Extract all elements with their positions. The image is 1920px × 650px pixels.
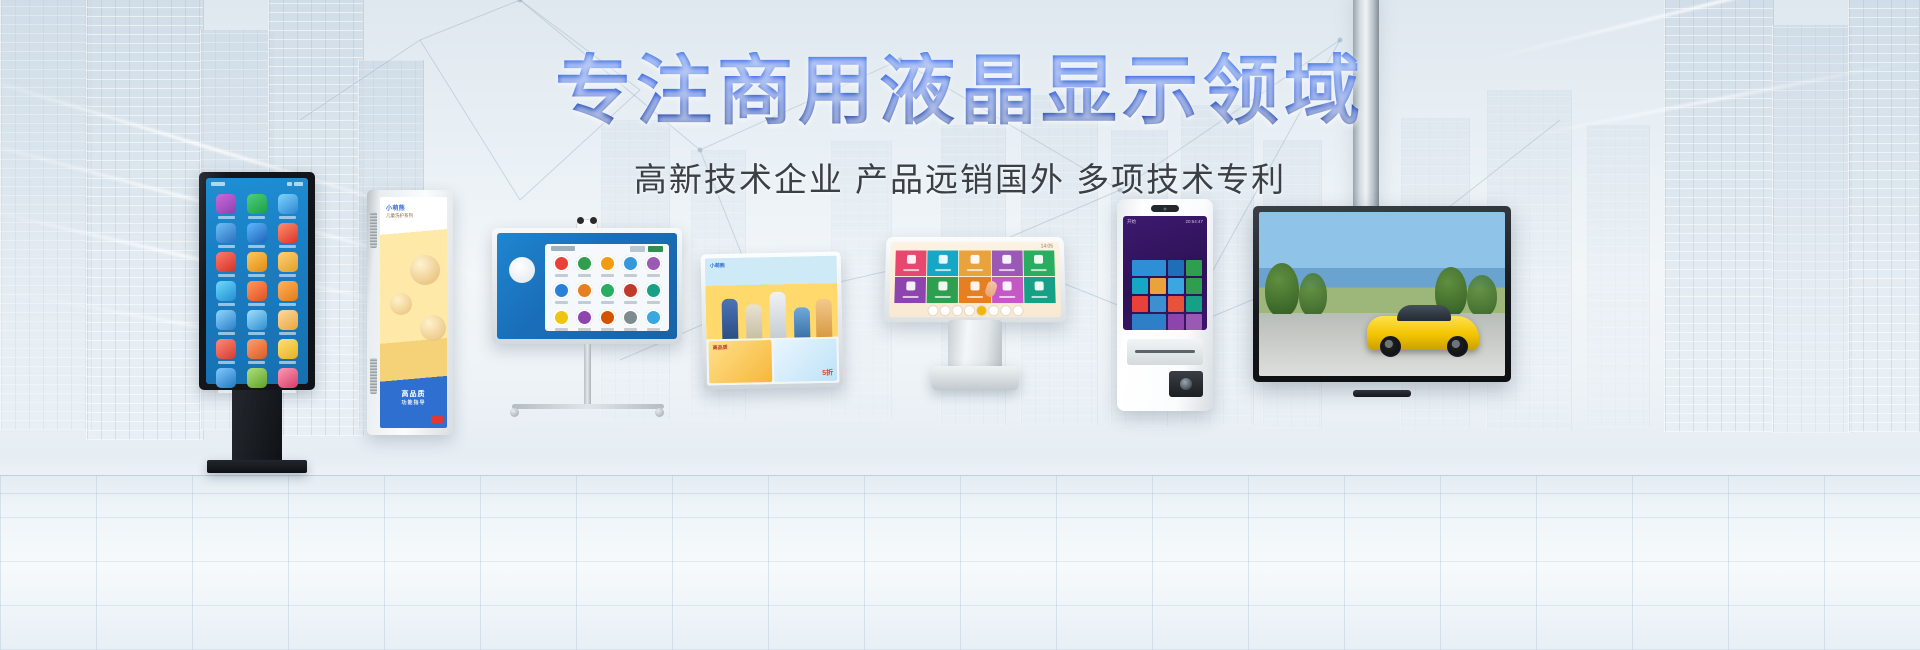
subject-tile[interactable]: [551, 309, 571, 331]
metro-tile[interactable]: [1168, 260, 1184, 276]
service-tile[interactable]: [927, 277, 959, 303]
metro-tile[interactable]: [1186, 314, 1202, 330]
product-vertical-ad-display[interactable]: 小萌熊 儿童洗护系列 高品质 功能指导: [367, 190, 453, 435]
vad-brand-label: 小萌熊: [386, 203, 405, 212]
product-advertising-tablet[interactable]: 小萌熊 高品质 5折: [701, 252, 844, 390]
terminal-status-bar: 开始 20:54:47: [1127, 219, 1203, 225]
subject-tile[interactable]: [620, 255, 640, 277]
tree-shape: [1265, 263, 1299, 317]
service-tile-grid: [894, 251, 1055, 304]
pedestal-dock: [893, 306, 1057, 315]
whiteboard-bezel: [492, 228, 682, 344]
vad-caption: 高品质 功能指导: [380, 389, 447, 406]
subject-tile[interactable]: [551, 255, 571, 277]
product-pedestal-touch-kiosk[interactable]: 14:05: [885, 236, 1065, 396]
promo-hero-area: 小萌熊: [705, 256, 839, 340]
promo-bottom-row: 高品质 5折: [706, 337, 839, 385]
status-clock: 20:54:47: [1185, 219, 1203, 225]
printer-slot: [1135, 350, 1195, 353]
vad-caption-main: 高品质: [402, 391, 426, 398]
promo-brand-label: 小萌熊: [710, 262, 725, 269]
dock-icon[interactable]: [1013, 306, 1022, 315]
kiosk-screen: [206, 178, 308, 384]
subject-tile[interactable]: [551, 282, 571, 304]
app-icon-tile: [214, 281, 239, 306]
dock-icon[interactable]: [940, 306, 949, 315]
service-tile[interactable]: [1024, 277, 1056, 303]
service-tile[interactable]: [894, 277, 926, 303]
os-label: 开始: [1127, 219, 1136, 225]
app-icon-tile: [245, 281, 270, 306]
subject-tile[interactable]: [597, 282, 617, 304]
panel-tabs[interactable]: [630, 246, 663, 252]
status-clock: 14:05: [1041, 244, 1054, 250]
app-icon-tile: [245, 223, 270, 248]
speaker-grille-icon: [370, 212, 377, 248]
tv-screen: [1259, 212, 1505, 376]
app-icon-tile: [214, 252, 239, 277]
dock-icon[interactable]: [989, 306, 998, 315]
app-icon-tile: [214, 310, 239, 335]
subject-tile[interactable]: [574, 309, 594, 331]
subject-tile[interactable]: [643, 255, 663, 277]
service-tile[interactable]: [959, 251, 990, 277]
product-floor-standing-kiosk[interactable]: [199, 172, 315, 472]
metro-tile[interactable]: [1168, 296, 1184, 312]
tree-shape: [1299, 273, 1327, 317]
speaker-grille-icon: [370, 358, 377, 394]
app-icon-tile: [245, 252, 270, 277]
stand-wheel: [510, 408, 519, 417]
app-icon-tile: [275, 281, 300, 306]
hero-banner: 专注商用液晶显示领域 高新技术企业 产品远销国外 多项技术专利: [0, 0, 1920, 650]
whiteboard-screen: [497, 233, 677, 339]
app-icon-tile: [275, 310, 300, 335]
service-tile[interactable]: [927, 251, 958, 277]
service-tile[interactable]: [895, 251, 927, 277]
whiteboard-app-grid: [551, 255, 663, 331]
metro-tile[interactable]: [1132, 314, 1166, 330]
dock-icon[interactable]: [928, 306, 937, 315]
subject-tile[interactable]: [620, 309, 640, 331]
metro-tile[interactable]: [1132, 278, 1148, 294]
vad-brand-sub: 儿童洗护系列: [386, 213, 413, 219]
subject-tile[interactable]: [597, 255, 617, 277]
windows-tile-grid: [1132, 260, 1202, 330]
car-wheel: [1380, 336, 1401, 357]
subject-tile[interactable]: [643, 282, 663, 304]
tree-shape: [1467, 275, 1497, 317]
tablet-screen: 小萌熊 高品质 5折: [705, 256, 840, 386]
tablet-frame: 小萌熊 高品质 5折: [701, 252, 844, 390]
car-wheel: [1447, 336, 1468, 357]
sports-car-graphic: [1367, 316, 1479, 350]
dock-icon-selected[interactable]: [977, 306, 986, 315]
panel-title-bar: [551, 246, 575, 251]
pedestal-column: [948, 320, 1002, 370]
metro-tile[interactable]: [1168, 278, 1184, 294]
promo-figure: [816, 299, 833, 337]
service-tile[interactable]: [991, 251, 1022, 277]
tab-all[interactable]: [630, 246, 645, 252]
vad-screen: 小萌熊 儿童洗护系列 高品质 功能指导: [380, 197, 447, 428]
service-tile[interactable]: [1023, 251, 1055, 277]
promo-figure: [722, 299, 739, 339]
promo-card-left: 高品质: [708, 340, 772, 383]
vad-decor-blob: [420, 315, 446, 341]
app-icon-tile: [214, 223, 239, 248]
pedestal-screen: 14:05: [889, 242, 1061, 317]
kiosk-column: [232, 390, 282, 462]
receipt-printer: [1127, 339, 1203, 365]
subject-tile[interactable]: [620, 282, 640, 304]
kiosk-app-grid: [214, 194, 300, 393]
avatar: [509, 257, 535, 283]
camera-icon: [1151, 205, 1179, 212]
metro-tile[interactable]: [1150, 278, 1166, 294]
whiteboard-stand-column: [584, 344, 591, 406]
dock-icon[interactable]: [1001, 306, 1010, 315]
product-interactive-whiteboard[interactable]: [492, 228, 682, 428]
whiteboard-stand-legs: [512, 404, 664, 409]
metro-tile[interactable]: [1186, 278, 1202, 294]
promo-figure: [769, 292, 786, 338]
promo-headline: 高品质: [713, 345, 728, 351]
dock-icon[interactable]: [964, 306, 973, 315]
metro-tile[interactable]: [1132, 260, 1166, 276]
page-subtitle: 高新技术企业 产品远销国外 多项技术专利: [0, 153, 1920, 201]
pedestal-screen-frame: 14:05: [884, 237, 1067, 322]
app-icon-tile: [275, 223, 300, 248]
tv-bezel: [1253, 206, 1511, 382]
app-icon-tile: [245, 310, 270, 335]
lobby-floor: [0, 475, 1920, 650]
kiosk-body: [199, 172, 315, 390]
vad-decor-blob: [390, 293, 412, 315]
stand-wheel: [655, 408, 664, 417]
car-cabin: [1397, 305, 1451, 321]
kiosk-base: [207, 460, 307, 473]
subject-tile[interactable]: [597, 309, 617, 331]
page-title: 专注商用液晶显示领域: [0, 52, 1920, 133]
promo-card-right: 5折: [773, 339, 837, 382]
promo-figure: [746, 304, 763, 338]
vad-decor-blob: [410, 255, 440, 285]
metro-tile[interactable]: [1150, 296, 1166, 312]
promo-price-tag: 5折: [822, 368, 833, 378]
metro-tile[interactable]: [1132, 296, 1148, 312]
metro-tile[interactable]: [1168, 314, 1184, 330]
app-icon-tile: [245, 339, 270, 364]
promo-figure: [794, 307, 811, 337]
metro-tile[interactable]: [1186, 260, 1202, 276]
metro-tile[interactable]: [1186, 296, 1202, 312]
subject-tile[interactable]: [574, 282, 594, 304]
subject-tile[interactable]: [574, 255, 594, 277]
vad-badge: [431, 416, 443, 423]
terminal-screen: 开始 20:54:47: [1123, 216, 1207, 330]
product-self-service-terminal[interactable]: 开始 20:54:47: [1117, 199, 1213, 411]
product-large-format-tv[interactable]: [1253, 206, 1511, 382]
barcode-scanner: [1169, 371, 1203, 397]
pedestal-base: [931, 366, 1019, 390]
app-icon-tile: [275, 252, 300, 277]
app-icon-tile: [214, 339, 239, 364]
banner-copy: 专注商用液晶显示领域 高新技术企业 产品远销国外 多项技术专利: [0, 52, 1920, 201]
dock-icon[interactable]: [952, 306, 961, 315]
whiteboard-app-panel: [545, 244, 669, 331]
app-icon-tile: [275, 339, 300, 364]
service-tile[interactable]: [992, 277, 1024, 303]
subject-tile[interactable]: [643, 309, 663, 331]
tv-stand: [1353, 390, 1411, 397]
vad-caption-sub: 功能指导: [380, 399, 447, 406]
tab-recommended[interactable]: [648, 246, 663, 252]
